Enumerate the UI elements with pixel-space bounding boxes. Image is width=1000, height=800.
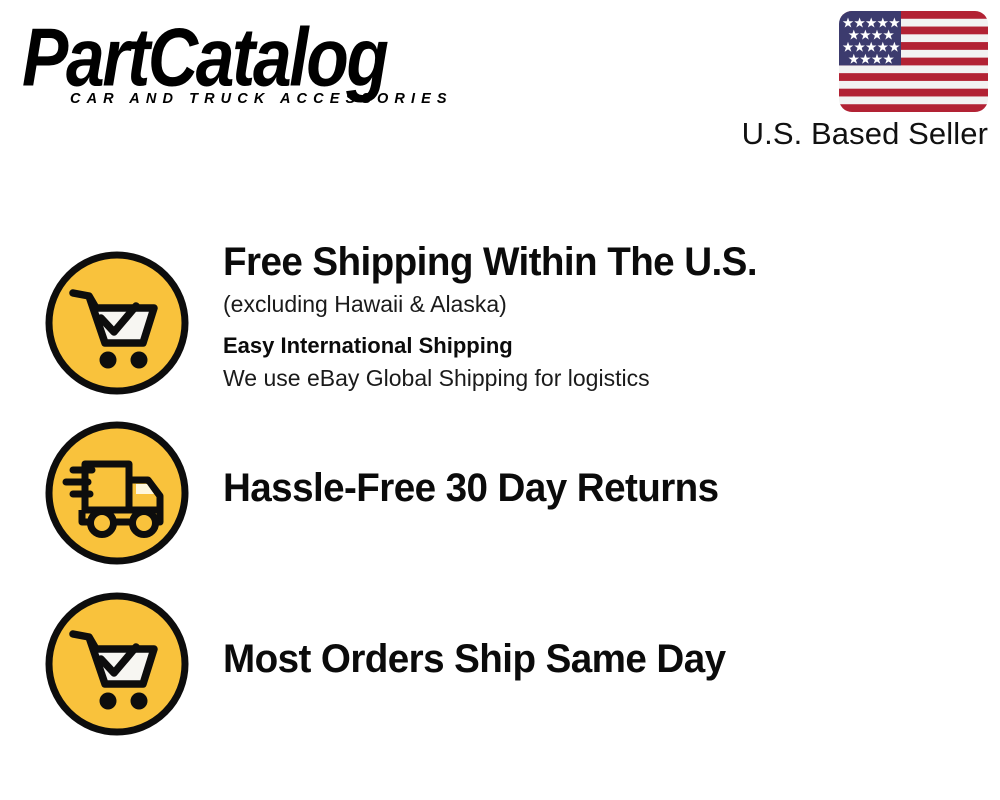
brand-tagline: CAR AND TRUCK ACCESSORIES bbox=[70, 91, 453, 107]
feature-title: Most Orders Ship Same Day bbox=[223, 639, 937, 681]
feature-title: Hassle-Free 30 Day Returns bbox=[223, 468, 937, 510]
feature-text-block: Hassle-Free 30 Day Returns bbox=[223, 468, 963, 510]
feature-title: Free Shipping Within The U.S. bbox=[223, 242, 937, 284]
feature-subtitle: (excluding Hawaii & Alaska) bbox=[223, 289, 963, 319]
feature-text-block: Most Orders Ship Same Day bbox=[223, 639, 963, 681]
brand-logo[interactable]: PartCatalog CAR AND TRUCK ACCESSORIES bbox=[22, 20, 492, 115]
us-based-seller-label: U.S. Based Seller bbox=[742, 116, 988, 152]
feature-text-block: Free Shipping Within The U.S. (excluding… bbox=[223, 242, 963, 393]
shopping-cart-check-icon bbox=[44, 591, 190, 737]
shopping-cart-check-icon bbox=[44, 250, 190, 396]
feature-secondary-title: Easy International Shipping bbox=[223, 332, 963, 361]
feature-secondary-note: We use eBay Global Shipping for logistic… bbox=[223, 364, 963, 394]
us-flag-icon bbox=[839, 11, 988, 112]
brand-wordmark: PartCatalog bbox=[22, 16, 387, 99]
delivery-truck-icon bbox=[44, 420, 190, 566]
promo-banner: PartCatalog CAR AND TRUCK ACCESSORIES bbox=[0, 0, 1000, 800]
